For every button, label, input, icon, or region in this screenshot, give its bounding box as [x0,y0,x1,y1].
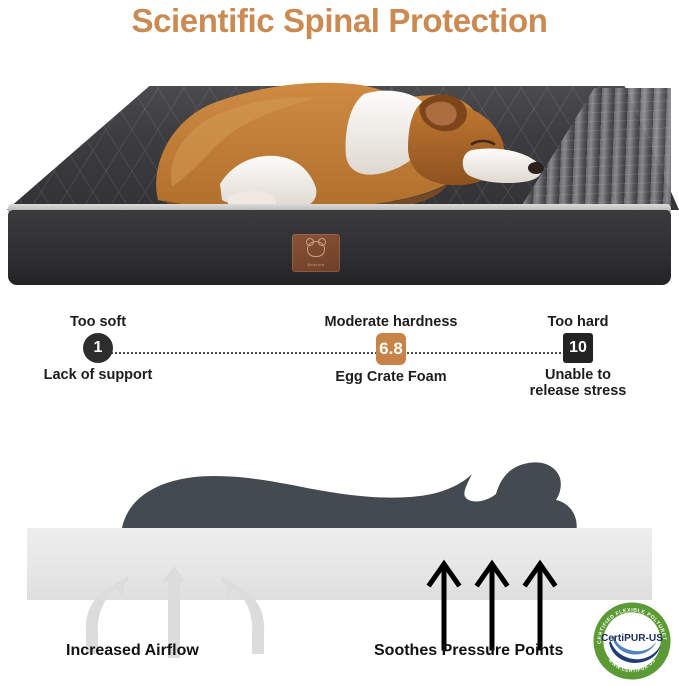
certipur-us-badge: CONTAINS CERTIFIED FLEXIBLE POLYURETHANE… [591,600,673,682]
pressure-arrows-icon [424,552,564,652]
airflow-caption: Increased Airflow [66,642,199,660]
infographic-page: Scientific Spinal Protection [0,0,679,686]
scale-value-badge-10: 10 [563,333,593,363]
scale-top-label: Moderate hardness [305,314,477,330]
scale-top-label: Too soft [18,314,178,330]
brand-name: Bedsure [292,262,340,267]
scale-bottom-label: Egg Crate Foam [305,369,477,385]
hardness-scale: Too soft 1 Lack of support Moderate hard… [0,308,679,404]
dog-face-icon [307,241,325,257]
foam-cross-section-diagram: Increased Airflow Soothes Pressure Point… [0,420,679,686]
pressure-caption: Soothes Pressure Points [374,642,563,660]
dog-photo [120,58,560,218]
page-title: Scientific Spinal Protection [0,2,679,40]
brand-logo-patch: Bedsure [292,234,340,272]
scale-node-moderate: Moderate hardness 6.8 Egg Crate Foam [305,314,477,385]
scale-node-too-soft: Too soft 1 Lack of support [18,314,178,383]
scale-bottom-label: Unable torelease stress [505,367,651,399]
certipur-center-text: CertiPUR-US [601,633,663,644]
scale-bottom-label: Lack of support [18,367,178,383]
scale-top-label: Too hard [505,314,651,330]
product-photo: Bedsure [0,58,679,290]
scale-value-badge-68: 6.8 [376,333,406,365]
scale-value-badge-1: 1 [83,333,113,363]
scale-node-too-hard: Too hard 10 Unable torelease stress [505,314,651,399]
